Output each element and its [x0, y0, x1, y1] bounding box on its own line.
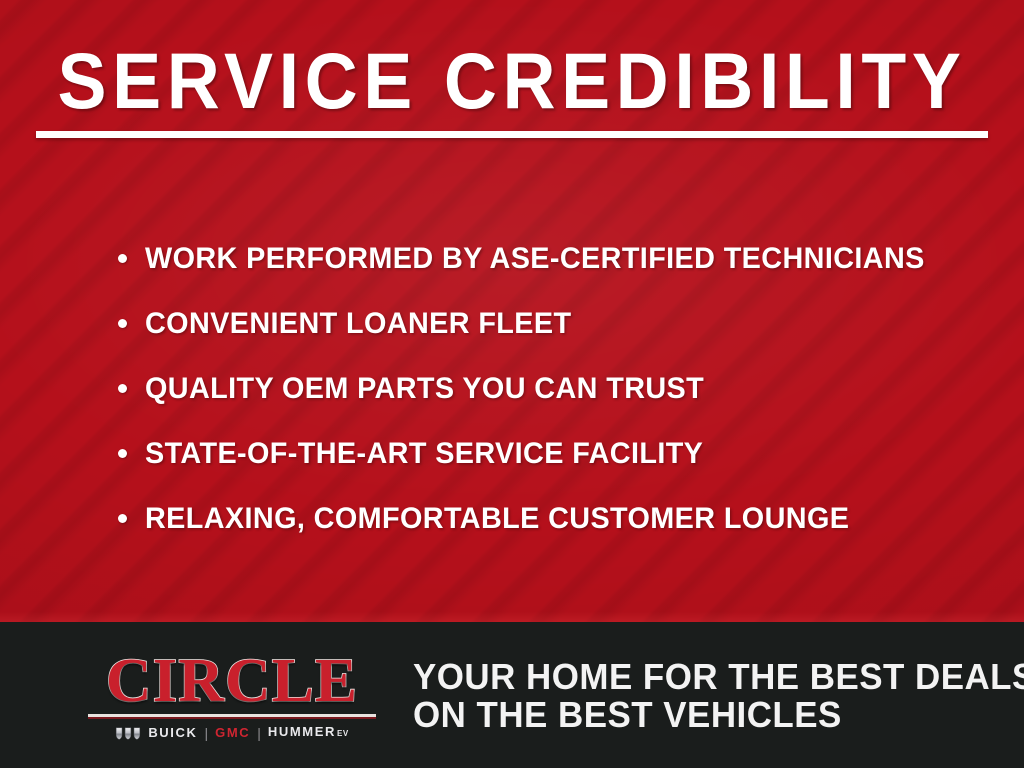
footer-tagline-line2: ON THE BEST VEHICLES — [413, 696, 1024, 734]
bullet-dot-icon — [118, 449, 127, 458]
list-item-label: STATE-OF-THE-ART SERVICE FACILITY — [145, 438, 703, 470]
dealer-logo: CIRCLE BUICK — [88, 652, 376, 741]
list-item-label: CONVENIENT LOANER FLEET — [145, 308, 571, 340]
brand-label-hummer: HUMMER EV — [268, 725, 349, 741]
footer-bar: CIRCLE BUICK — [0, 622, 1024, 768]
dealer-wordmark: CIRCLE — [85, 652, 379, 710]
brand-label-gmc: GMC — [215, 726, 250, 740]
brand-strip: BUICK | GMC | HUMMER EV — [88, 725, 376, 741]
bullet-dot-icon — [118, 254, 127, 263]
slide-canvas: SERVICE CREDIBILITY WORK PERFORMED BY AS… — [0, 0, 1024, 768]
brand-separator: | — [257, 726, 261, 740]
brand-label-hummer-text: HUMMER — [268, 725, 336, 739]
brand-label-hummer-ev: EV — [337, 727, 349, 741]
bullet-dot-icon — [118, 319, 127, 328]
list-item: QUALITY OEM PARTS YOU CAN TRUST — [118, 356, 998, 421]
brand-separator: | — [204, 726, 208, 740]
list-item-label: QUALITY OEM PARTS YOU CAN TRUST — [145, 373, 704, 405]
list-item: STATE-OF-THE-ART SERVICE FACILITY — [118, 421, 998, 486]
list-item-label: WORK PERFORMED BY ASE-CERTIFIED TECHNICI… — [145, 243, 925, 275]
buick-trishield-icon — [115, 727, 141, 740]
benefits-list: WORK PERFORMED BY ASE-CERTIFIED TECHNICI… — [118, 226, 998, 551]
bullet-dot-icon — [118, 384, 127, 393]
brand-label-buick: BUICK — [148, 726, 197, 740]
page-title: SERVICE CREDIBILITY — [36, 38, 988, 124]
bullet-dot-icon — [118, 514, 127, 523]
footer-tagline: YOUR HOME FOR THE BEST DEALS ON THE BEST… — [413, 658, 1024, 734]
list-item-label: RELAXING, COMFORTABLE CUSTOMER LOUNGE — [145, 503, 849, 535]
panel-bottom-highlight — [0, 612, 1024, 622]
title-underline-rule — [36, 131, 988, 138]
footer-tagline-line1: YOUR HOME FOR THE BEST DEALS — [413, 658, 1024, 696]
list-item: RELAXING, COMFORTABLE CUSTOMER LOUNGE — [118, 486, 998, 551]
list-item: CONVENIENT LOANER FLEET — [118, 291, 998, 356]
list-item: WORK PERFORMED BY ASE-CERTIFIED TECHNICI… — [118, 226, 998, 291]
